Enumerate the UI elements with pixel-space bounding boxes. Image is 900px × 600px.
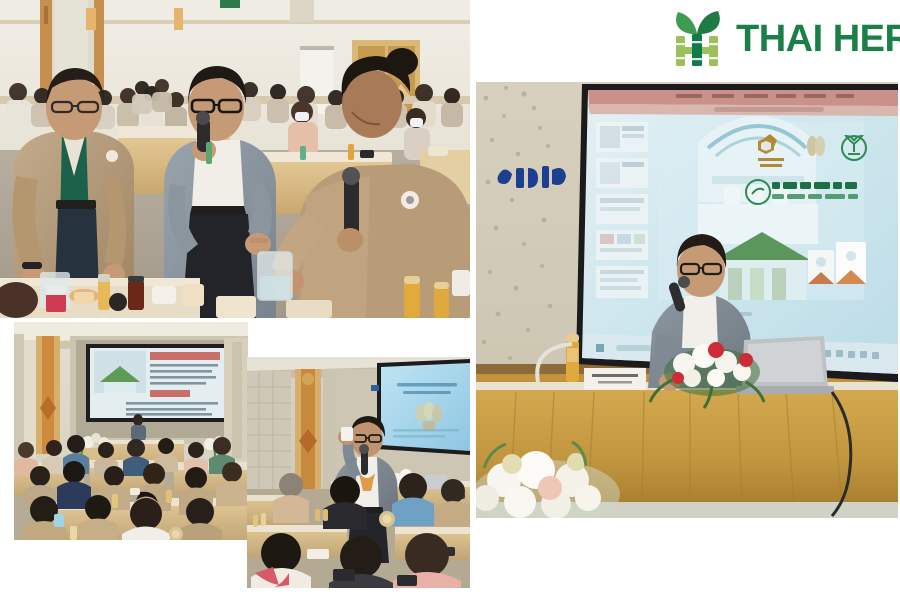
- presenter-with-audience-photo: [247, 357, 470, 588]
- bamboo-h-leaf-logo-icon: [668, 8, 726, 70]
- keynote-speaker-podium-photo: [476, 82, 898, 518]
- audience-wide-room-photo: [14, 322, 248, 540]
- demo-photo-artwork: [247, 357, 470, 588]
- collage-canvas: THAI HERB: [0, 0, 900, 600]
- logo-bamboo-h: [676, 34, 718, 66]
- brand-name: THAI HERB: [736, 20, 900, 58]
- main-photo-artwork: [0, 0, 470, 318]
- main-product-demonstration-photo: [0, 0, 470, 318]
- audience-photo-artwork: [14, 322, 248, 540]
- brand-logo: THAI HERB: [668, 6, 896, 72]
- logo-leaf-right: [697, 11, 720, 34]
- logo-leaf-left: [676, 12, 697, 34]
- speaker-photo-artwork: [476, 82, 898, 518]
